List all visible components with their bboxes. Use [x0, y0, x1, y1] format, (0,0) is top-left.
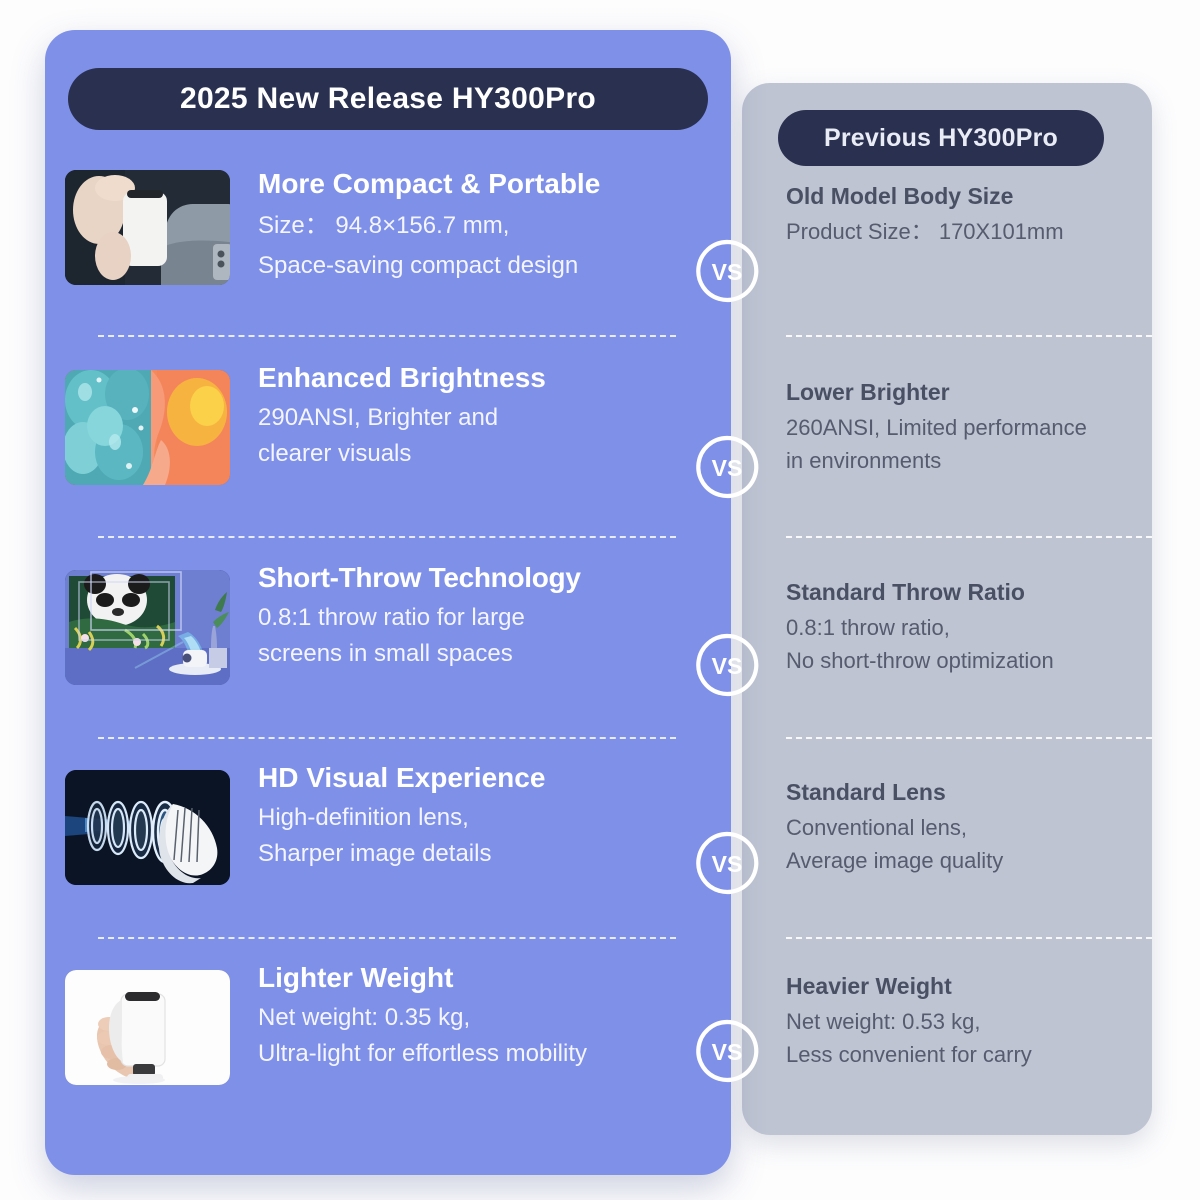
new-feature-text: More Compact & Portable Size： 94.8×156.7…: [258, 166, 688, 286]
new-feature-text: Short-Throw Technology 0.8:1 throw ratio…: [258, 560, 688, 673]
projector-in-backpack-photo: [65, 170, 230, 285]
old-feature-line2: No short-throw optimization: [786, 644, 1146, 677]
new-model-title-badge: 2025 New Release HY300Pro: [68, 68, 708, 130]
row-divider-right: [786, 536, 1152, 538]
new-feature-line1: 290ANSI, Brighter and: [258, 400, 688, 436]
hand-holding-projector-photo: [65, 970, 230, 1085]
old-feature-heading: Heavier Weight: [786, 972, 1146, 1002]
old-feature-text: Standard Lens Conventional lens, Average…: [786, 778, 1146, 877]
row-divider-right: [786, 737, 1152, 739]
vs-badge: VS: [694, 830, 760, 896]
new-feature-heading: Enhanced Brightness: [258, 360, 688, 396]
new-feature-line1: High-definition lens,: [258, 800, 688, 836]
old-feature-heading: Standard Throw Ratio: [786, 578, 1146, 608]
svg-text:VS: VS: [712, 1039, 743, 1065]
new-feature-line1: Size： 94.8×156.7 mm,: [258, 206, 688, 246]
new-feature-text: Lighter Weight Net weight: 0.35 kg, Ultr…: [258, 960, 688, 1073]
old-feature-line1: Product Size： 170X101mm: [786, 215, 1146, 248]
svg-text:VS: VS: [712, 455, 743, 481]
old-feature-heading: Old Model Body Size: [786, 182, 1146, 212]
previous-model-title: Previous HY300Pro: [824, 124, 1058, 153]
new-feature-heading: Short-Throw Technology: [258, 560, 688, 596]
row-divider-left: [98, 937, 676, 939]
old-feature-line2: in environments: [786, 444, 1146, 477]
new-feature-line2: Sharper image details: [258, 836, 688, 872]
projector-panda-screen-photo: [65, 570, 230, 685]
vs-badge: VS: [694, 434, 760, 500]
comparison-infographic: Previous HY300Pro 2025 New Release HY300…: [0, 0, 1200, 1200]
new-feature-text: Enhanced Brightness 290ANSI, Brighter an…: [258, 360, 688, 473]
svg-text:VS: VS: [712, 653, 743, 679]
new-feature-heading: Lighter Weight: [258, 960, 688, 996]
new-feature-line2: clearer visuals: [258, 436, 688, 472]
old-feature-line2: Less convenient for carry: [786, 1038, 1146, 1071]
new-feature-line2: screens in small spaces: [258, 636, 688, 672]
old-feature-line2: Average image quality: [786, 844, 1146, 877]
svg-text:VS: VS: [712, 259, 743, 285]
old-feature-line1: Conventional lens,: [786, 811, 1146, 844]
old-feature-text: Heavier Weight Net weight: 0.53 kg, Less…: [786, 972, 1146, 1071]
vs-badge: VS: [694, 238, 760, 304]
old-feature-line1: Net weight: 0.53 kg,: [786, 1005, 1146, 1038]
previous-model-title-badge: Previous HY300Pro: [778, 110, 1104, 166]
new-feature-line1: Net weight: 0.35 kg,: [258, 1000, 688, 1036]
row-divider-left: [98, 536, 676, 538]
new-feature-heading: More Compact & Portable: [258, 166, 688, 202]
old-feature-text: Lower Brighter 260ANSI, Limited performa…: [786, 378, 1146, 477]
new-feature-line2: Ultra-light for effortless mobility: [258, 1036, 688, 1072]
old-feature-line1: 0.8:1 throw ratio,: [786, 611, 1146, 644]
exploded-lens-assembly-photo: [65, 770, 230, 885]
row-divider-left: [98, 737, 676, 739]
colorful-glossy-flowers-photo: [65, 370, 230, 485]
old-feature-text: Old Model Body Size Product Size： 170X10…: [786, 182, 1146, 248]
old-feature-text: Standard Throw Ratio 0.8:1 throw ratio, …: [786, 578, 1146, 677]
old-feature-line1: 260ANSI, Limited performance: [786, 411, 1146, 444]
svg-text:VS: VS: [712, 851, 743, 877]
new-feature-heading: HD Visual Experience: [258, 760, 688, 796]
row-divider-right: [786, 335, 1152, 337]
old-feature-heading: Lower Brighter: [786, 378, 1146, 408]
new-feature-line2: Space-saving compact design: [258, 246, 688, 286]
new-feature-line1: 0.8:1 throw ratio for large: [258, 600, 688, 636]
vs-badge: VS: [694, 1018, 760, 1084]
row-divider-right: [786, 937, 1152, 939]
old-feature-heading: Standard Lens: [786, 778, 1146, 808]
row-divider-left: [98, 335, 676, 337]
vs-badge: VS: [694, 632, 760, 698]
new-feature-text: HD Visual Experience High-definition len…: [258, 760, 688, 873]
new-model-title: 2025 New Release HY300Pro: [180, 82, 596, 116]
